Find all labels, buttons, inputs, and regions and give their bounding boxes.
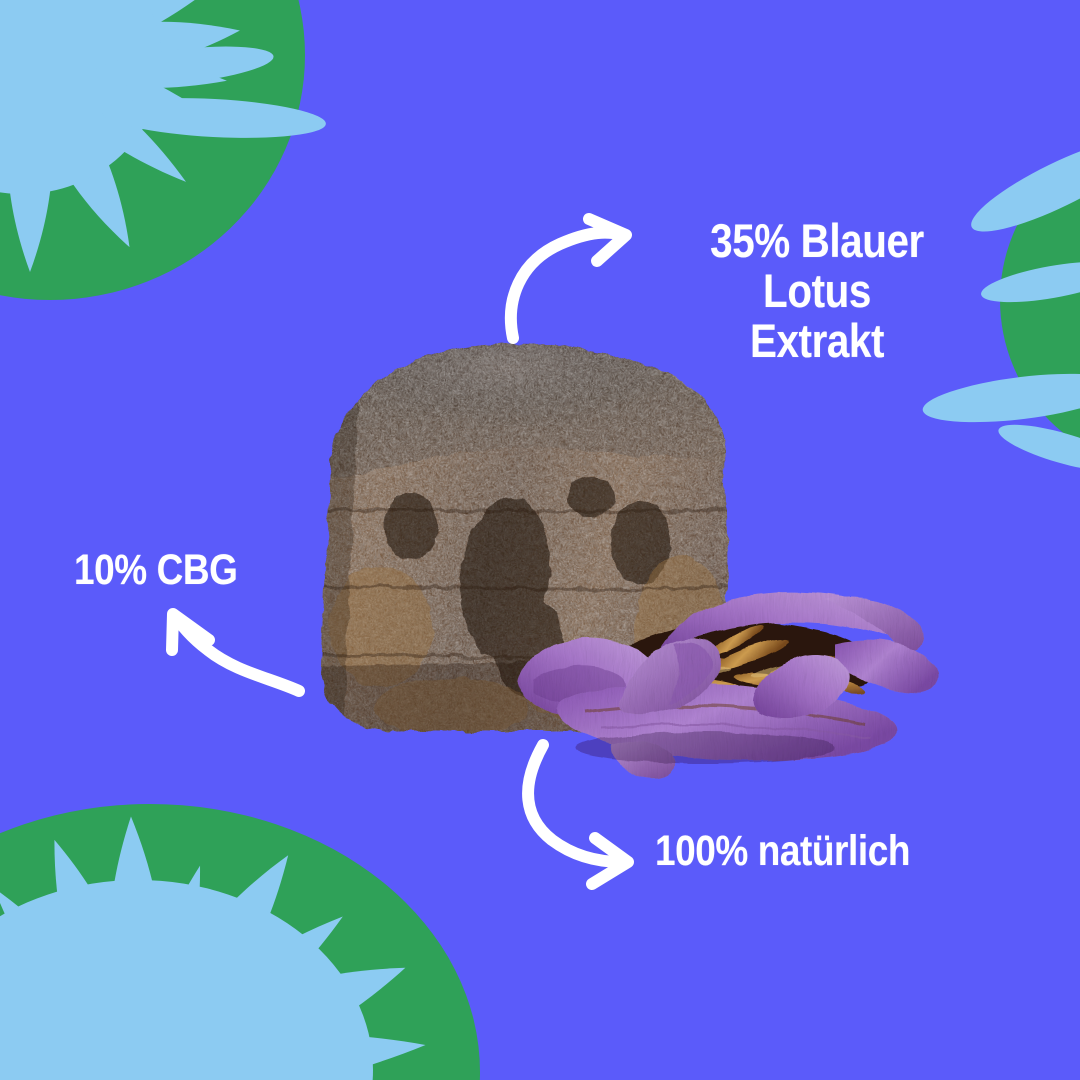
callout-label-cbg: 10% CBG bbox=[74, 548, 237, 594]
arrow-to-lotus-label bbox=[511, 219, 626, 338]
arrow-to-natural-label bbox=[528, 745, 628, 884]
callout-label-natural: 100% natürlich bbox=[655, 829, 910, 875]
promo-graphic: 35% Blauer Lotus Extrakt 10% CBG 100% na… bbox=[0, 0, 1080, 1080]
arrow-layer bbox=[0, 0, 1080, 1080]
callout-label-lotus: 35% Blauer Lotus Extrakt bbox=[675, 216, 959, 365]
arrow-to-cbg-label bbox=[172, 614, 299, 691]
